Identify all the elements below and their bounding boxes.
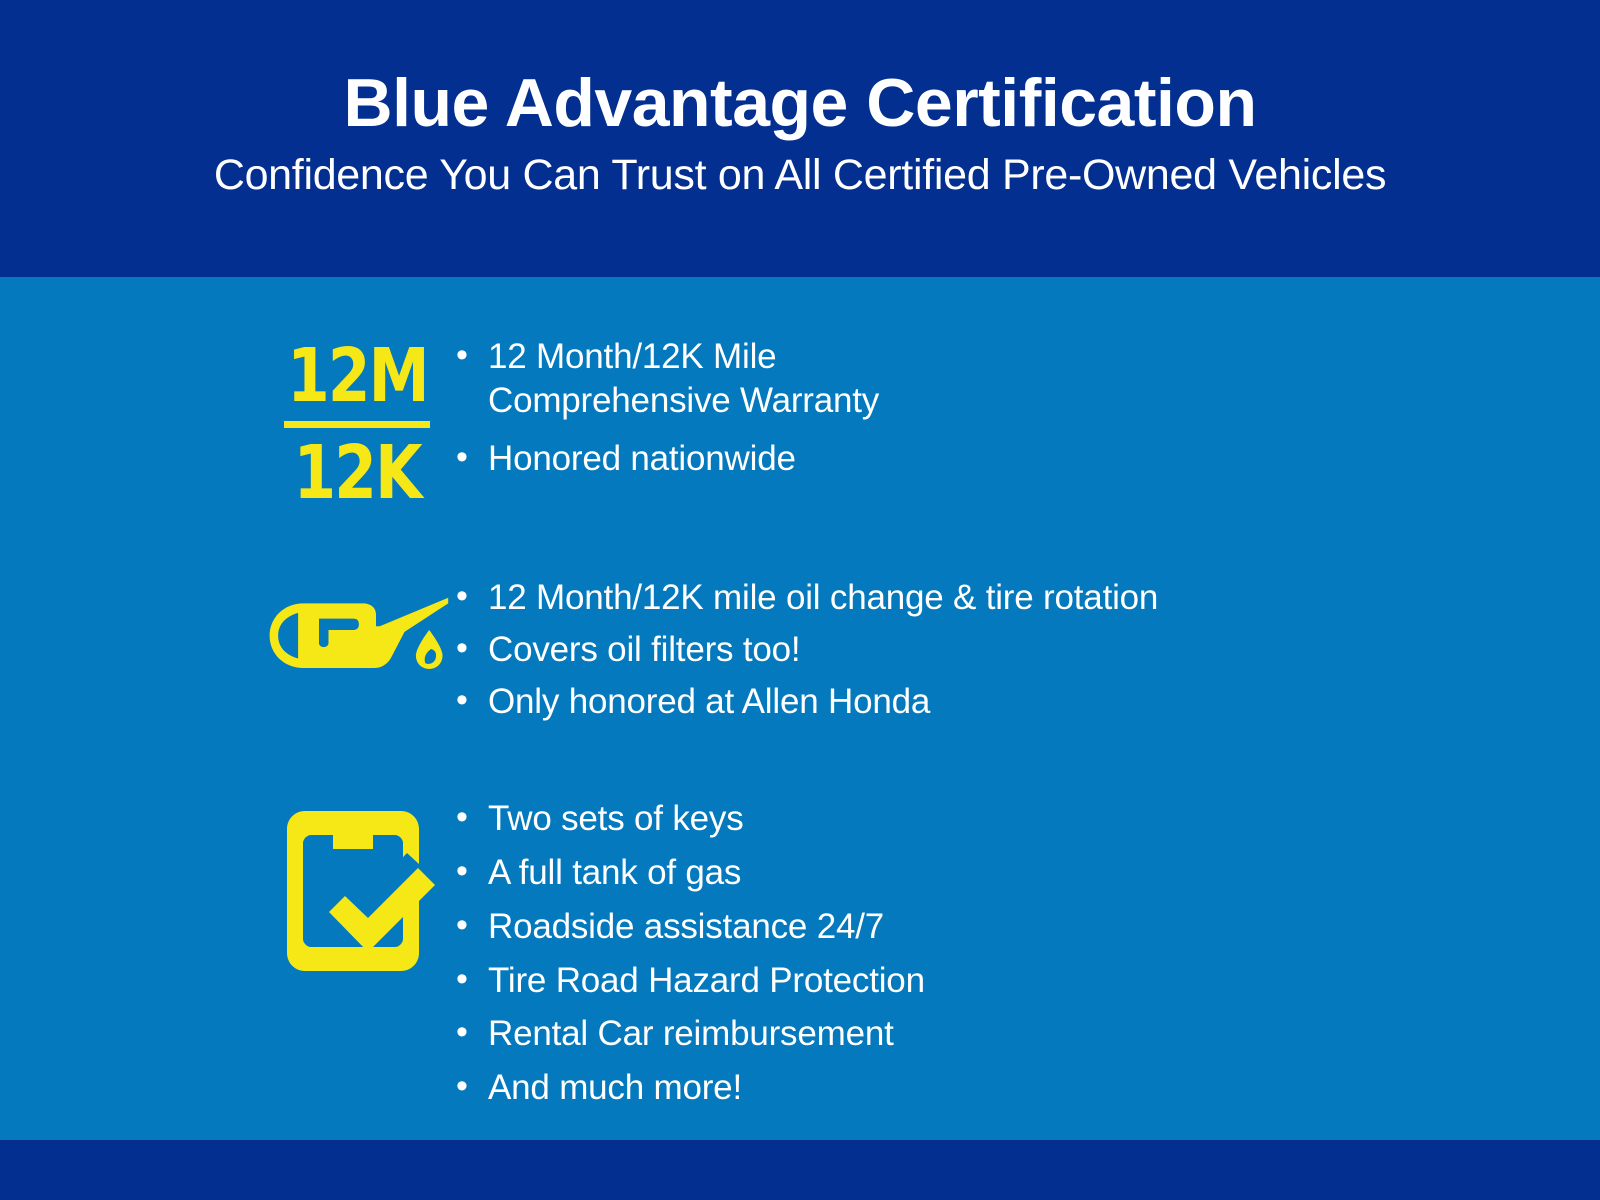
bullet-list-warranty: 12 Month/12K Mile Comprehensive Warranty… [452,335,879,480]
feature-section-maintenance: 12 Month/12K mile oil change & tire rota… [0,576,1600,731]
list-item: 12 Month/12K Mile Comprehensive Warranty [452,335,879,423]
list-item: Two sets of keys [452,797,925,841]
list-item: And much more! [452,1066,925,1110]
features-area: 12M 12K 12 Month/12K Mile Comprehensive … [0,277,1600,1200]
header-banner: Blue Advantage Certification Confidence … [0,0,1600,277]
list-item: Honored nationwide [452,437,879,481]
clipboard-checkmark-icon [277,801,437,981]
page-subtitle: Confidence You Can Trust on All Certifie… [214,153,1386,198]
icon-cell-extras [262,797,452,981]
twelve-month-twelve-k-fraction-icon: 12M 12K [281,339,434,510]
list-item: A full tank of gas [452,851,925,895]
bullet-list-maintenance: 12 Month/12K mile oil change & tire rota… [452,576,1158,731]
list-item: Roadside assistance 24/7 [452,905,925,949]
poster-canvas: Blue Advantage Certification Confidence … [0,0,1600,1200]
icon-cell-maintenance [262,576,452,680]
list-item: Tire Road Hazard Protection [452,959,925,1003]
fraction-numerator: 12M [287,339,428,413]
list-item: Rental Car reimbursement [452,1012,925,1056]
icon-cell-warranty: 12M 12K [262,335,452,510]
list-item: Only honored at Allen Honda [452,680,1158,724]
feature-section-extras: Two sets of keys A full tank of gas Road… [0,797,1600,1120]
fraction-denominator: 12K [293,436,420,510]
bullet-list-extras: Two sets of keys A full tank of gas Road… [452,797,925,1120]
list-item: 12 Month/12K mile oil change & tire rota… [452,576,1158,620]
feature-section-warranty: 12M 12K 12 Month/12K Mile Comprehensive … [0,335,1600,510]
oil-can-icon [262,580,452,680]
list-item: Covers oil filters too! [452,628,1158,672]
footer-band [0,1140,1600,1200]
fraction-divider-line [284,421,430,428]
page-title: Blue Advantage Certification [344,69,1257,138]
